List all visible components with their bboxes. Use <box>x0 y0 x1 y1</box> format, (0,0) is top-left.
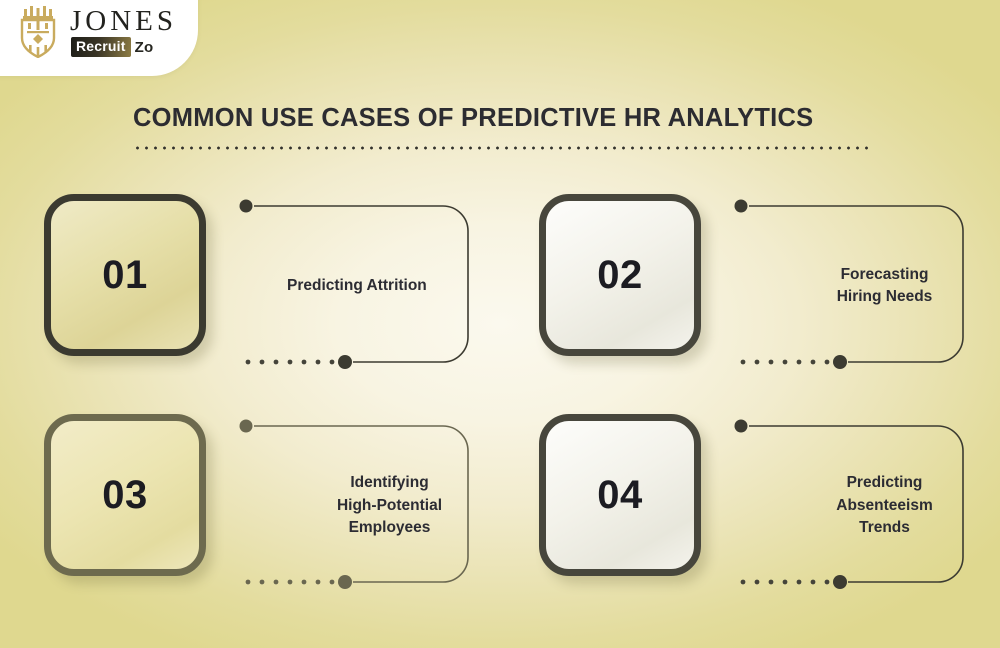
card-number: 03 <box>102 475 148 515</box>
logo-suffix: Zo <box>135 39 154 56</box>
title-block: COMMON USE CASES OF PREDICTIVE HR ANALYT… <box>133 104 875 150</box>
number-badge: 04 <box>539 414 701 576</box>
logo-badge: Recruit <box>71 37 131 56</box>
card-number: 02 <box>597 255 643 295</box>
bracket-dot-top <box>735 420 748 433</box>
number-badge: 01 <box>44 194 206 356</box>
infographic-canvas: JONES Recruit Zo COMMON USE CASES OF PRE… <box>0 0 1000 648</box>
card-label: Predicting Absenteeism Trends <box>782 406 987 606</box>
card-label: Identifying High-Potential Employees <box>287 406 492 606</box>
logo-word: JONES <box>70 7 177 36</box>
logo-panel: JONES Recruit Zo <box>0 0 198 76</box>
card-number: 04 <box>597 475 643 515</box>
bracket-dot-top <box>240 420 253 433</box>
bracket-dot-top <box>240 200 253 213</box>
card-label: Forecasting Hiring Needs <box>782 186 987 386</box>
bracket-dot-top <box>735 200 748 213</box>
card-number: 01 <box>102 255 148 295</box>
use-case-card: 01 Predicting Attrition <box>44 186 484 386</box>
use-case-card: 03 Identifying High-Potential Employees <box>44 406 484 606</box>
number-badge: 03 <box>44 414 206 576</box>
page-title: COMMON USE CASES OF PREDICTIVE HR ANALYT… <box>133 104 875 133</box>
number-badge: 02 <box>539 194 701 356</box>
title-dotted-rule <box>133 146 873 150</box>
use-case-grid: 01 Predicting Attrition <box>0 186 1000 606</box>
use-case-card: 02 Forecasting Hiring Needs <box>539 186 979 386</box>
shield-crest-icon <box>16 6 60 58</box>
card-label: Predicting Attrition <box>287 186 492 386</box>
logo-wordmark: JONES Recruit Zo <box>70 7 177 56</box>
use-case-card: 04 Predicting Absenteeism Trends <box>539 406 979 606</box>
